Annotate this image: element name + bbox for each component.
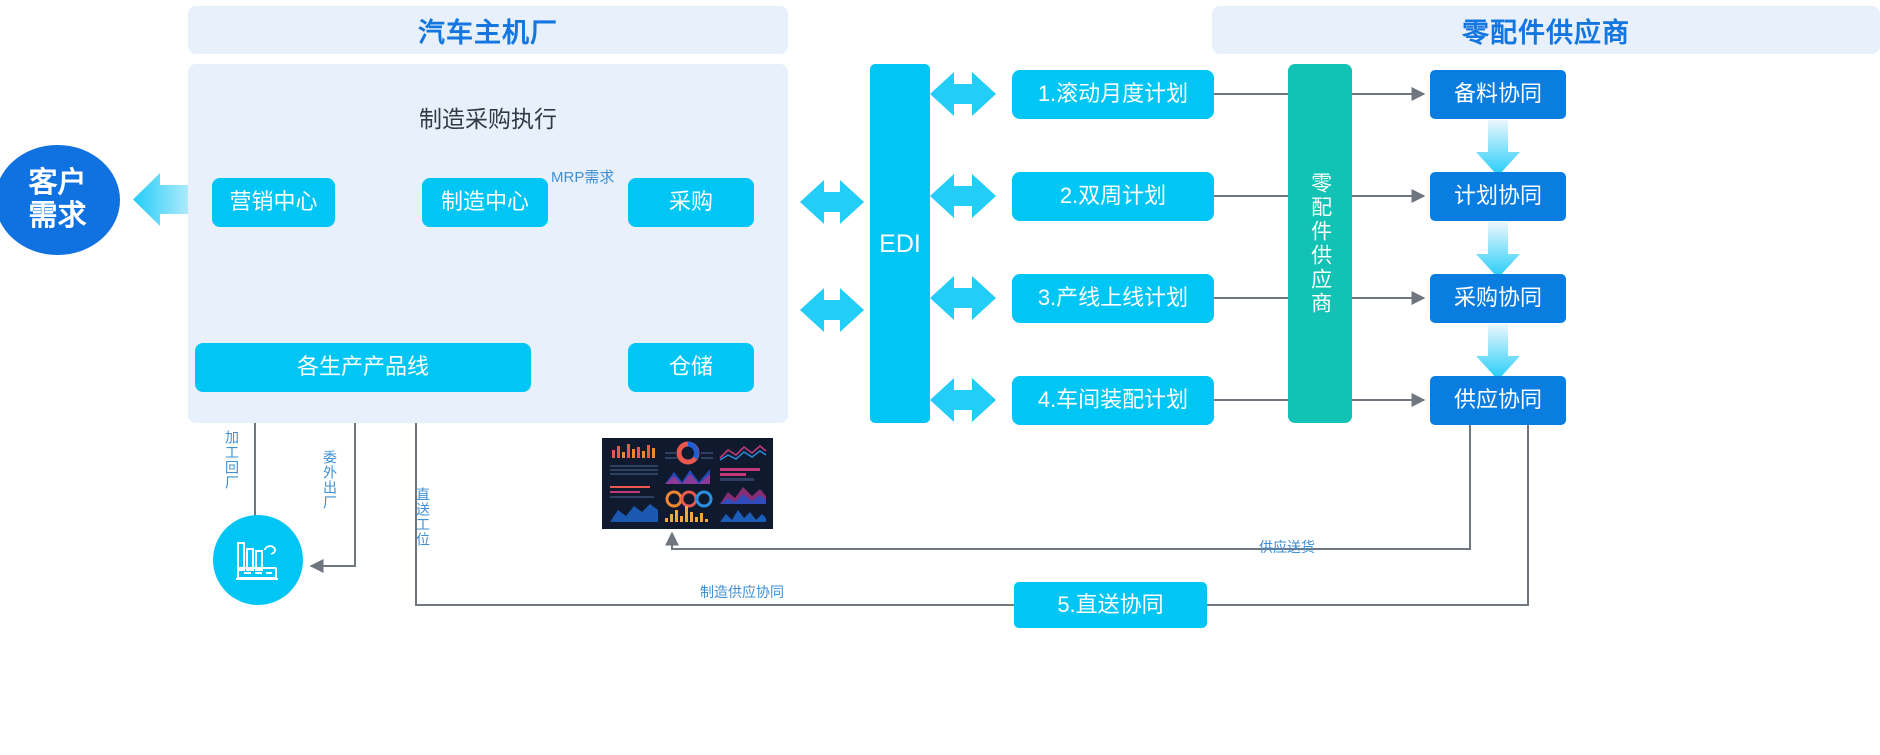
direct-delivery-box[interactable]: 5.直送协同 [1014,582,1207,628]
edge-label-manufacture-supply-collab: 制造供应协同 [700,582,784,602]
analytics-dashboard-thumbnail [602,438,773,529]
plan-box-3[interactable]: 3.产线上线计划 [1012,274,1214,323]
supplier-vertical-bar[interactable]: 零配件供应商 [1288,64,1352,423]
diagram-canvas: 汽车主机厂 零配件供应商 制造采购执行 客户 需求 营销中心 制造中心 采购 M… [0,0,1880,755]
node-production-lines[interactable]: 各生产产品线 [195,343,531,392]
header-supplier-label: 零配件供应商 [1462,11,1630,50]
node-purchasing[interactable]: 采购 [628,178,754,227]
node-purchasing-label: 采购 [669,189,713,215]
supplier-vertical-bar-label: 零配件供应商 [1307,172,1332,316]
plan-box-3-label: 3.产线上线计划 [1038,285,1188,311]
edi-bar-label: EDI [879,229,921,259]
collab-box-3-label: 采购协同 [1454,285,1542,311]
node-customer-demand[interactable]: 客户 需求 [0,145,120,255]
node-marketing-center-label: 营销中心 [229,189,317,215]
edi-bar[interactable]: EDI [870,64,930,423]
plan-box-2-label: 2.双周计划 [1060,183,1166,209]
collab-box-2[interactable]: 计划协同 [1430,172,1566,221]
arrow-warehouse-edi [800,288,864,332]
collab-box-1-label: 备料协同 [1454,81,1542,107]
factory-glyph [233,537,283,583]
supplier-to-collab-arrows [1352,94,1424,400]
collab-box-4-label: 供应协同 [1454,387,1542,413]
bottom-routing-lines [255,393,1528,605]
node-warehouse-label: 仓储 [669,354,713,380]
node-customer-demand-label: 客户 需求 [28,167,86,234]
edge-label-mrp: MRP需求 [551,166,614,187]
edge-label-process-return: 加工回厂 [222,430,242,490]
header-supplier: 零配件供应商 [1212,6,1880,54]
plan-to-supplier-lines [1214,94,1288,400]
collab-box-4[interactable]: 供应协同 [1430,376,1566,425]
header-oem: 汽车主机厂 [188,6,788,54]
plan-box-1[interactable]: 1.滚动月度计划 [1012,70,1214,119]
arrow-edi-plan-4 [930,378,996,422]
edge-label-outsource-out: 委外出厂 [320,450,340,510]
arrow-purchasing-edi [800,180,864,224]
plan-box-4-label: 4.车间装配计划 [1038,387,1188,413]
plan-box-2[interactable]: 2.双周计划 [1012,172,1214,221]
node-warehouse[interactable]: 仓储 [628,343,754,392]
plan-box-4[interactable]: 4.车间装配计划 [1012,376,1214,425]
arrow-edi-plan-1 [930,72,996,116]
node-marketing-center[interactable]: 营销中心 [212,178,335,227]
node-manufacturing-center[interactable]: 制造中心 [422,178,548,227]
collab-box-1[interactable]: 备料协同 [1430,70,1566,119]
collab-box-3[interactable]: 采购协同 [1430,274,1566,323]
edge-label-supply-delivery: 供应送货 [1259,537,1315,557]
arrow-edi-plan-2 [930,174,996,218]
plan-box-1-label: 1.滚动月度计划 [1038,81,1188,107]
factory-icon [213,515,303,605]
node-production-lines-label: 各生产产品线 [297,354,429,380]
collab-box-2-label: 计划协同 [1454,183,1542,209]
collab-chain-arrows [1476,120,1520,380]
edge-label-direct-to-station: 直送工位 [413,487,433,547]
header-oem-label: 汽车主机厂 [418,11,558,50]
direct-delivery-box-label: 5.直送协同 [1057,592,1163,618]
arrow-edi-plan-3 [930,276,996,320]
dashboard-glyph [602,438,773,529]
oem-panel-title: 制造采购执行 [188,100,788,134]
node-manufacturing-center-label: 制造中心 [441,189,529,215]
